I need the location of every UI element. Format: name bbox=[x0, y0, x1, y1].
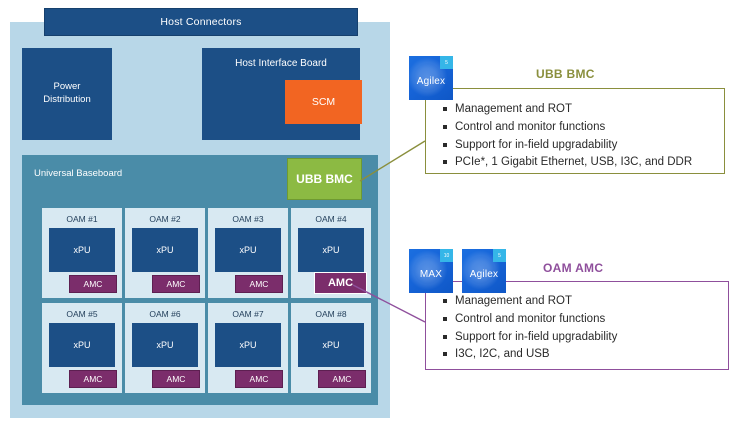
agilex-chip-tag-amc: 5 bbox=[493, 249, 506, 262]
host-interface-board-block: Host Interface Board SCM bbox=[202, 48, 360, 140]
oam-card-label: OAM #7 bbox=[208, 309, 288, 319]
universal-baseboard-title: Universal Baseboard bbox=[34, 168, 122, 179]
oam-card: OAM #4xPUAMC bbox=[291, 208, 371, 298]
xpu-block: xPU bbox=[215, 323, 281, 367]
oam-card-label: OAM #8 bbox=[291, 309, 371, 319]
amc-block: AMC bbox=[235, 370, 283, 388]
power-distribution-block: Power Distribution bbox=[22, 48, 112, 140]
oam-card-label: OAM #2 bbox=[125, 214, 205, 224]
xpu-block: xPU bbox=[298, 323, 364, 367]
amc-block: AMC bbox=[69, 275, 117, 293]
feature-bullet: PCIe*, 1 Gigabit Ethernet, USB, I3C, and… bbox=[443, 154, 692, 172]
oam-amc-feature-list: Management and ROTControl and monitor fu… bbox=[443, 293, 617, 364]
host-interface-board-title: Host Interface Board bbox=[202, 58, 360, 69]
xpu-block: xPU bbox=[298, 228, 364, 272]
xpu-block: xPU bbox=[132, 228, 198, 272]
scm-block: SCM bbox=[285, 80, 362, 124]
agilex-chip-badge-ubb: 5 Agilex bbox=[409, 56, 453, 100]
ubb-bmc-block: UBB BMC bbox=[287, 158, 362, 200]
amc-block: AMC bbox=[318, 370, 366, 388]
oam-card: OAM #7xPUAMC bbox=[208, 303, 288, 393]
agilex-chip-tag-ubb: 5 bbox=[440, 56, 453, 69]
agilex-chip-name-amc: Agilex bbox=[470, 269, 498, 280]
xpu-block: xPU bbox=[132, 323, 198, 367]
amc-block-highlighted: AMC bbox=[314, 272, 367, 294]
oam-card-label: OAM #5 bbox=[42, 309, 122, 319]
agilex-chip-name-ubb: Agilex bbox=[417, 76, 445, 87]
power-distribution-label-line1: Power bbox=[43, 81, 91, 94]
oam-card: OAM #3xPUAMC bbox=[208, 208, 288, 298]
agilex-chip-badge-amc: 5 Agilex bbox=[462, 249, 506, 293]
feature-bullet: Management and ROT bbox=[443, 101, 692, 119]
feature-bullet: Control and monitor functions bbox=[443, 311, 617, 329]
oam-card: OAM #8xPUAMC bbox=[291, 303, 371, 393]
feature-bullet: Control and monitor functions bbox=[443, 119, 692, 137]
max-chip-name-amc: MAX bbox=[420, 269, 442, 280]
oam-card-label: OAM #6 bbox=[125, 309, 205, 319]
oam-amc-callout-title: OAM AMC bbox=[543, 261, 603, 275]
universal-baseboard-panel: Universal Baseboard UBB BMC OAM #1xPUAMC… bbox=[22, 155, 378, 405]
amc-block: AMC bbox=[152, 370, 200, 388]
ubb-bmc-callout-title: UBB BMC bbox=[536, 67, 595, 81]
oam-card: OAM #2xPUAMC bbox=[125, 208, 205, 298]
amc-block: AMC bbox=[69, 370, 117, 388]
feature-bullet: Support for in-field upgradability bbox=[443, 137, 692, 155]
oam-grid: OAM #1xPUAMCOAM #2xPUAMCOAM #3xPUAMCOAM … bbox=[42, 208, 372, 394]
power-distribution-label-line2: Distribution bbox=[43, 94, 91, 107]
xpu-block: xPU bbox=[49, 228, 115, 272]
feature-bullet: I3C, I2C, and USB bbox=[443, 346, 617, 364]
max-chip-badge-amc: 10 MAX bbox=[409, 249, 453, 293]
feature-bullet: Management and ROT bbox=[443, 293, 617, 311]
xpu-block: xPU bbox=[49, 323, 115, 367]
oam-card: OAM #1xPUAMC bbox=[42, 208, 122, 298]
oam-card: OAM #5xPUAMC bbox=[42, 303, 122, 393]
amc-block: AMC bbox=[235, 275, 283, 293]
xpu-block: xPU bbox=[215, 228, 281, 272]
max-chip-tag-amc: 10 bbox=[440, 249, 453, 262]
host-connectors-bar: Host Connectors bbox=[44, 8, 358, 36]
ubb-bmc-feature-list: Management and ROTControl and monitor fu… bbox=[443, 101, 692, 172]
oam-card-label: OAM #1 bbox=[42, 214, 122, 224]
feature-bullet: Support for in-field upgradability bbox=[443, 329, 617, 347]
oam-card-label: OAM #3 bbox=[208, 214, 288, 224]
oam-card: OAM #6xPUAMC bbox=[125, 303, 205, 393]
amc-block: AMC bbox=[152, 275, 200, 293]
oam-card-label: OAM #4 bbox=[291, 214, 371, 224]
